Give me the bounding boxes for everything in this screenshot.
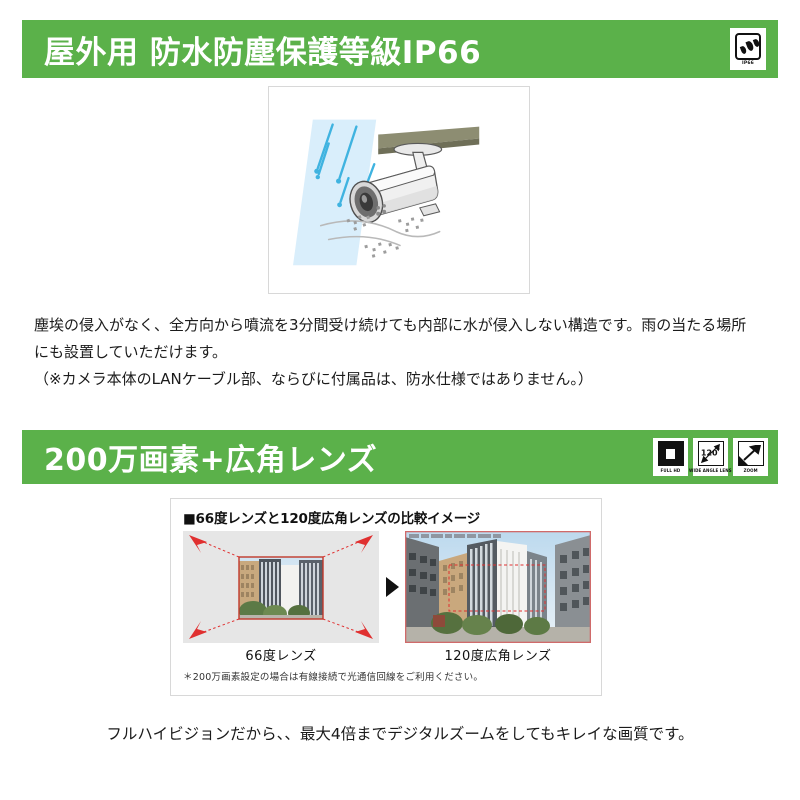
zoom-caption: ZOOM <box>743 468 757 473</box>
comparison-arrow-icon <box>379 531 405 643</box>
section-header-waterproof: 屋外用 防水防塵保護等級IP66 IP66 <box>22 20 778 78</box>
outdoor-camera-rain-illustration <box>268 86 530 294</box>
zoom-badge: ZOOM <box>733 438 768 476</box>
ip66-rating-badge: IP66 <box>730 28 766 70</box>
zoom-icon <box>738 441 764 466</box>
lens-66-image <box>183 531 379 643</box>
lens-caption-row: 66度レンズ 120度広角レンズ <box>183 645 591 664</box>
full-hd-badge: FULL HD <box>653 438 688 476</box>
water-drops-icon <box>735 33 761 60</box>
desc-line-2: にも設置していただけます。 <box>34 339 774 366</box>
full-hd-icon <box>658 441 684 466</box>
header-badge-row-2: FULL HD 120° WIDE ANGLE LENS <box>653 438 768 476</box>
lens-comparison-footnote: ＊200万画素設定の場合は有線接続で光通信回線をご利用ください。 <box>183 669 591 683</box>
lens-120-image <box>405 531 591 643</box>
wide-angle-lens-badge: 120° WIDE ANGLE LENS <box>693 438 728 476</box>
wide-angle-caption: WIDE ANGLE LENS <box>689 468 732 473</box>
product-feature-page: 屋外用 防水防塵保護等級IP66 IP66 <box>0 0 800 800</box>
section-title-waterproof: 屋外用 防水防塵保護等級IP66 <box>44 27 730 72</box>
lens-comparison-panel: ■66度レンズと120度広角レンズの比較イメージ <box>170 498 602 696</box>
desc-line-3: （※カメラ本体のLANケーブル部、ならびに付属品は、防水仕様ではありません。） <box>34 366 774 393</box>
lens-comparison-title: ■66度レンズと120度広角レンズの比較イメージ <box>183 507 591 527</box>
desc-line-1: 塵埃の侵入がなく、全方向から噴流を3分間受け続けても内部に水が侵入しない構造です… <box>34 312 774 339</box>
waterproof-description: 塵埃の侵入がなく、全方向から噴流を3分間受け続けても内部に水が侵入しない構造です… <box>34 312 774 393</box>
wide-angle-icon: 120° <box>698 441 724 466</box>
header-badge-row-1: IP66 <box>730 28 766 70</box>
lens-comparison-row <box>183 531 591 643</box>
ip66-badge-caption: IP66 <box>742 61 754 66</box>
closing-description: フルハイビジョンだから、、最大4倍までデジタルズームをしてもキレイな画質です。 <box>0 722 800 744</box>
lens-120-caption: 120度広角レンズ <box>405 645 591 664</box>
full-hd-caption: FULL HD <box>661 468 681 473</box>
section-title-resolution: 200万画素+広角レンズ <box>44 435 653 479</box>
section-header-resolution: 200万画素+広角レンズ FULL HD 120° <box>22 430 778 484</box>
lens-66-caption: 66度レンズ <box>183 645 379 664</box>
